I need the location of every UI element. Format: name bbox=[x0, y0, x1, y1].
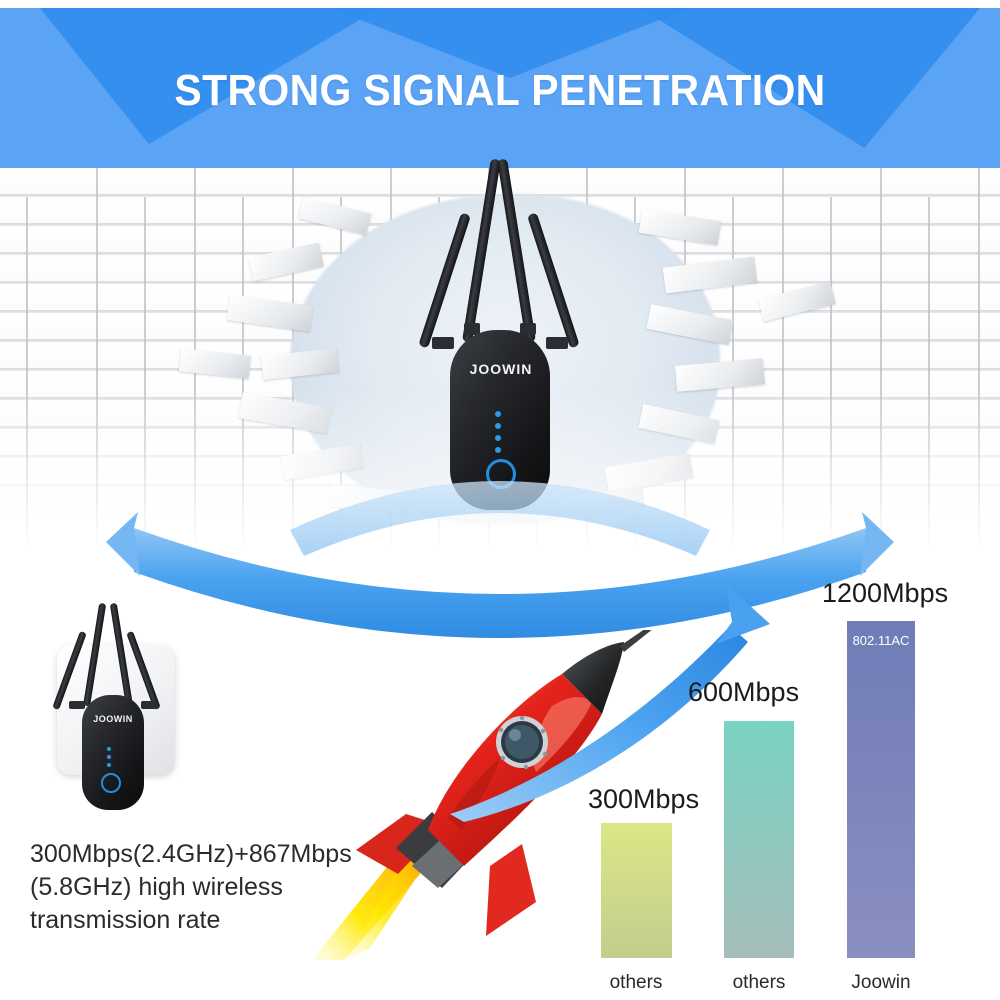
speed-comparison-chart: 300Mbps others 600Mbps others 1200Mbps 8… bbox=[560, 560, 1000, 1000]
bar-value-label: 300Mbps bbox=[588, 784, 699, 815]
wifi-extender-main: JOOWIN bbox=[410, 155, 590, 515]
antenna-hinge bbox=[141, 701, 157, 709]
antenna-hinge bbox=[546, 337, 568, 349]
antenna bbox=[462, 158, 501, 342]
header-banner: STRONG SIGNAL PENETRATION bbox=[0, 8, 1000, 168]
bar-value-label: 600Mbps bbox=[688, 677, 799, 708]
status-led bbox=[495, 423, 501, 429]
bar-value-label: 1200Mbps bbox=[822, 578, 948, 609]
status-led bbox=[495, 411, 501, 417]
status-led bbox=[495, 435, 501, 441]
brand-logo: JOOWIN bbox=[458, 361, 544, 377]
bar-category-label: others bbox=[702, 972, 816, 994]
status-led bbox=[107, 755, 111, 759]
bar-others-600 bbox=[724, 721, 794, 958]
power-indicator-ring bbox=[101, 773, 121, 793]
page-title: STRONG SIGNAL PENETRATION bbox=[35, 66, 965, 116]
bar-joowin-1200: 802.11AC bbox=[847, 621, 915, 958]
bar-category-label: Joowin bbox=[826, 972, 936, 994]
antenna-hinge bbox=[69, 701, 85, 709]
brand-logo: JOOWIN bbox=[85, 714, 141, 724]
product-infographic: STRONG SIGNAL PENETRATION JOOWIN bbox=[0, 0, 1000, 1000]
bar-others-300 bbox=[601, 823, 672, 958]
wifi-extender-plugged: JOOWIN bbox=[25, 605, 185, 825]
bar-standard-badge: 802.11AC bbox=[847, 633, 915, 648]
status-led bbox=[107, 763, 111, 767]
status-led bbox=[495, 447, 501, 453]
antenna-hinge bbox=[432, 337, 454, 349]
status-led bbox=[107, 747, 111, 751]
bar-category-label: others bbox=[580, 972, 692, 994]
antenna bbox=[497, 158, 536, 342]
